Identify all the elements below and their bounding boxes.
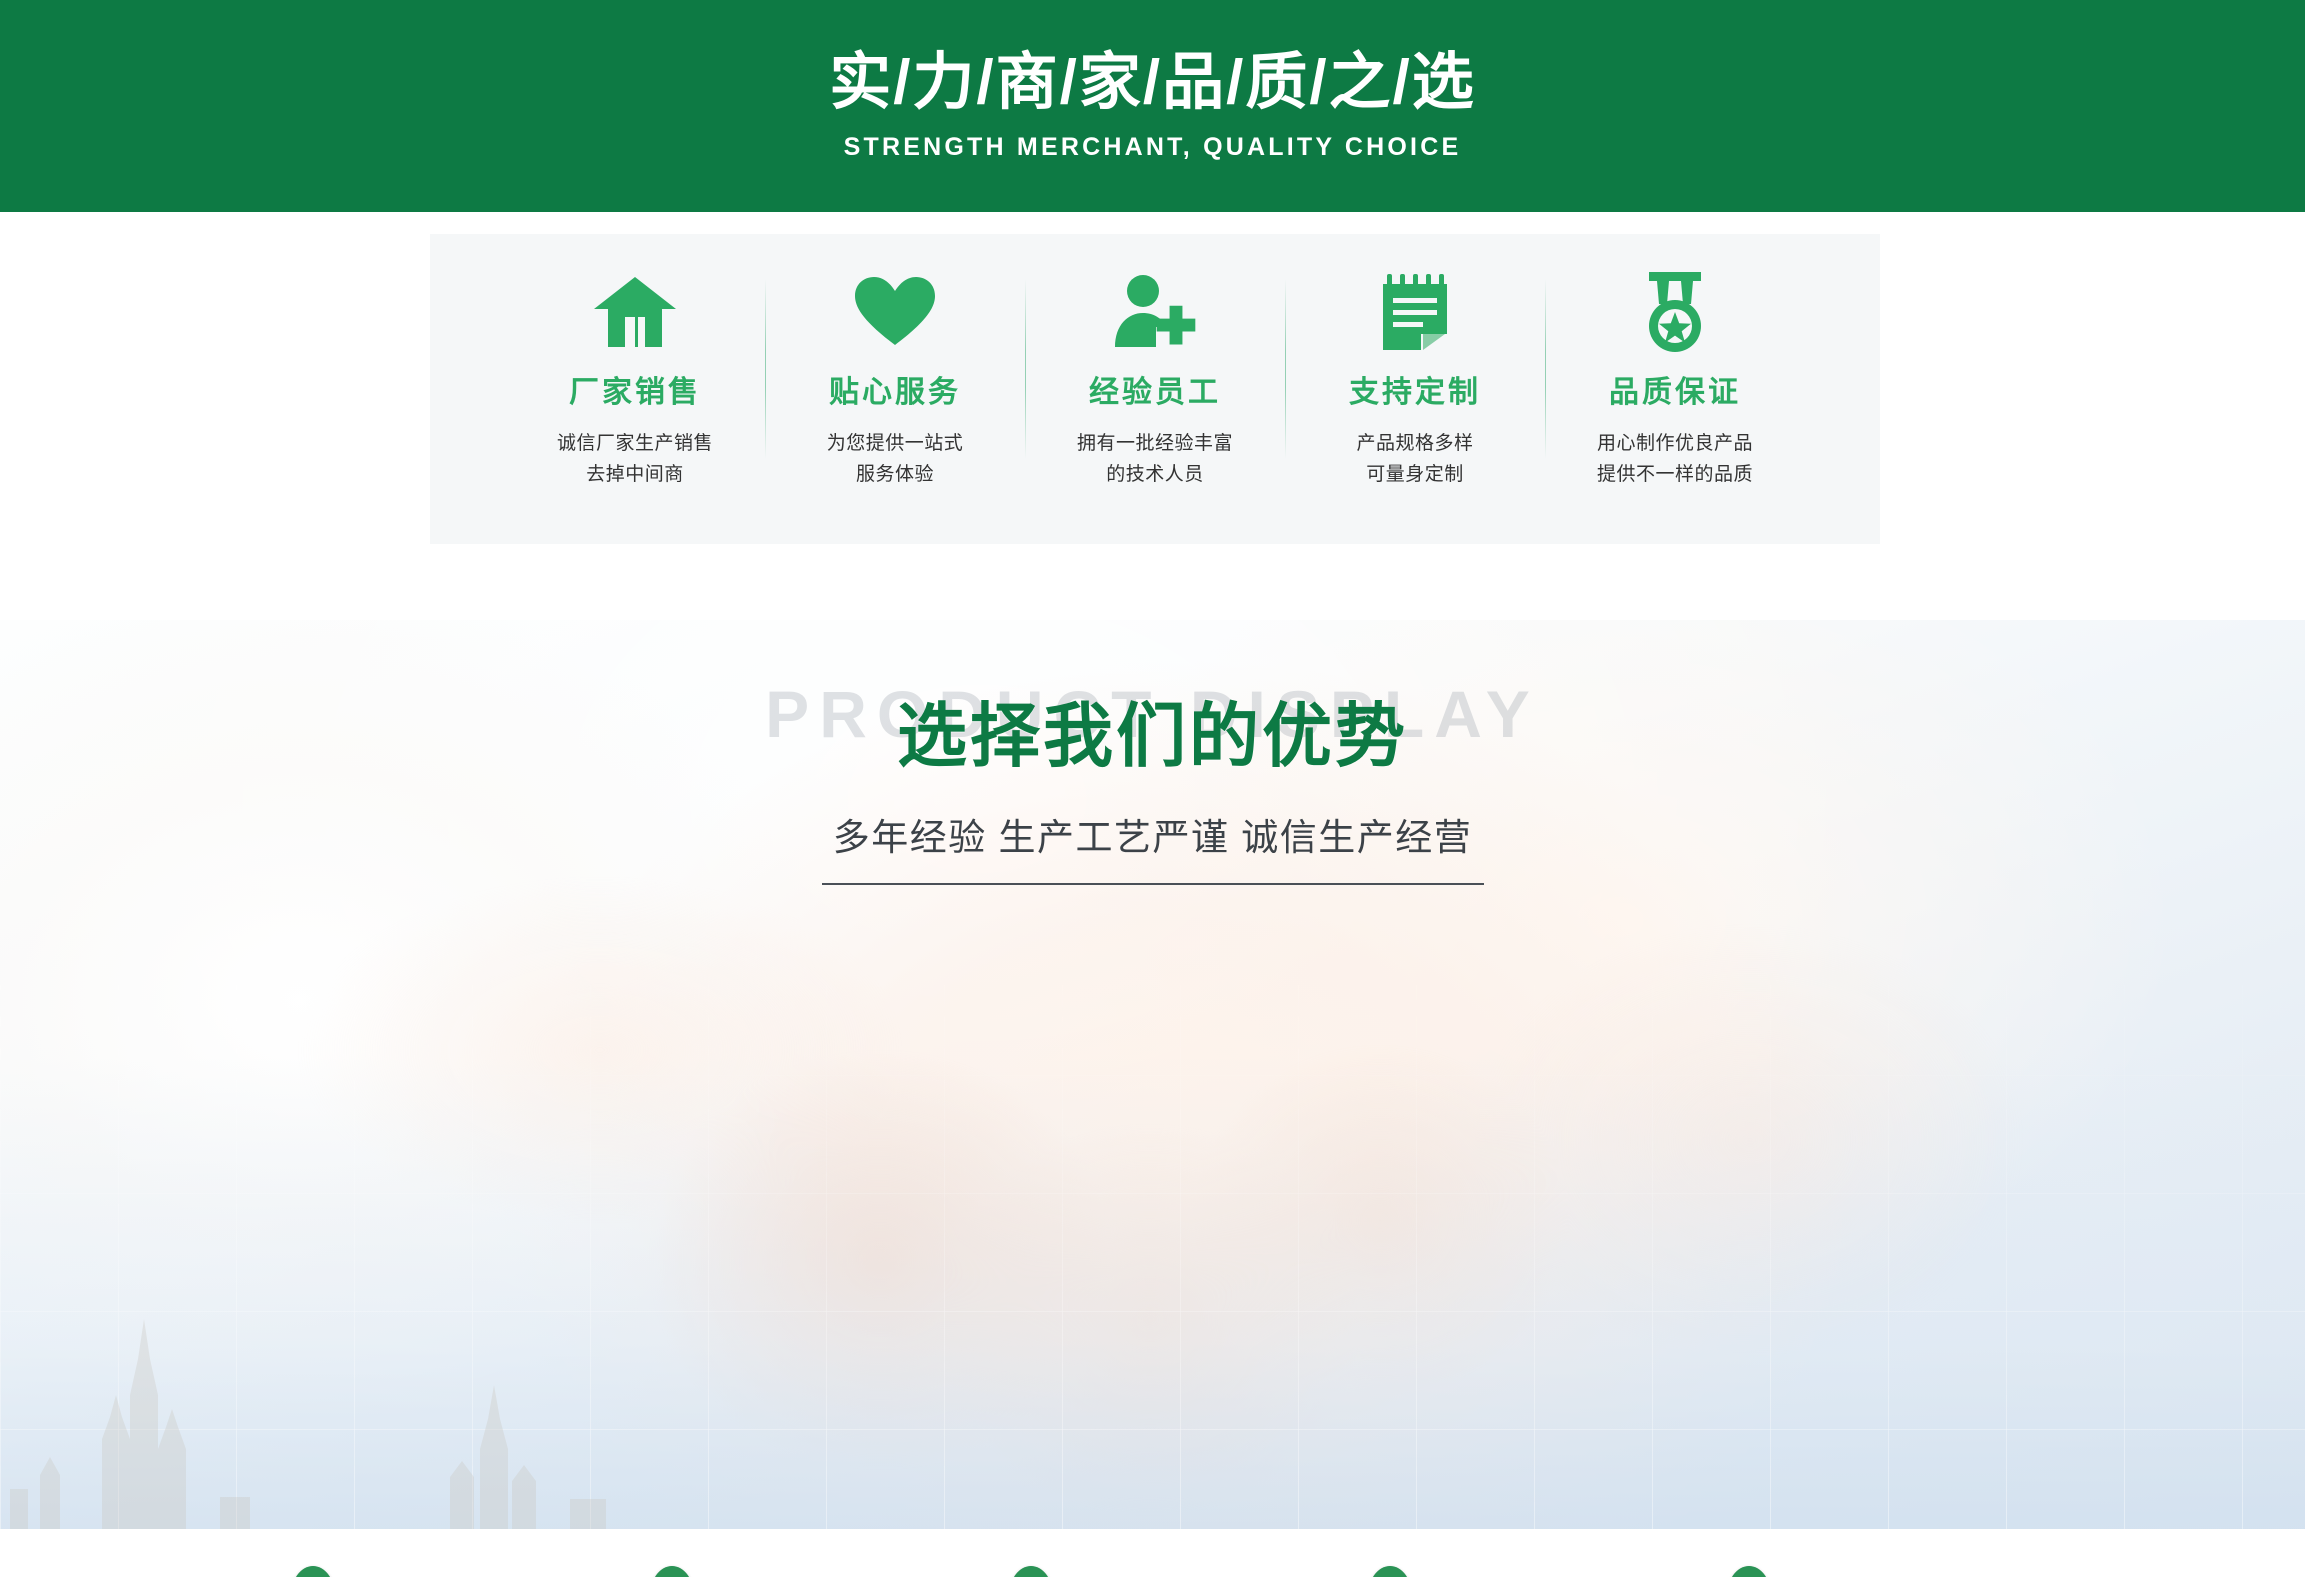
advantage-header: 选择我们的优势 多年经验 生产工艺严谨 诚信生产经营: [0, 620, 2305, 885]
features-band: 厂家销售 诚信厂家生产销售 去掉中间商 贴心服务 为您提供一站式 服务体验: [0, 212, 2305, 620]
feature-title: 品质保证: [1545, 367, 1805, 411]
feature-item-manufacturer-sales[interactable]: 厂家销售 诚信厂家生产销售 去掉中间商: [505, 234, 765, 491]
feature-desc-line1: 诚信厂家生产销售: [505, 429, 765, 460]
medal-icon: [1545, 269, 1805, 355]
feature-desc-line2: 去掉中间商: [505, 460, 765, 491]
feature-desc-line1: 为您提供一站式: [765, 429, 1025, 460]
background-footer-strip: [0, 1529, 2305, 1577]
feature-item-quality-guarantee[interactable]: 品质保证 用心制作优良产品 提供不一样的品质: [1545, 234, 1805, 491]
features-panel: 厂家销售 诚信厂家生产销售 去掉中间商 贴心服务 为您提供一站式 服务体验: [430, 234, 1880, 544]
feature-desc-line1: 拥有一批经验丰富: [1025, 429, 1285, 460]
feature-item-caring-service[interactable]: 贴心服务 为您提供一站式 服务体验: [765, 234, 1025, 491]
heart-icon: [765, 269, 1025, 355]
notepad-icon: [1285, 269, 1545, 355]
advantage-title: 选择我们的优势: [0, 680, 2305, 781]
feature-desc-line2: 提供不一样的品质: [1545, 460, 1805, 491]
feature-desc-line2: 可量身定制: [1285, 460, 1545, 491]
feature-title: 贴心服务: [765, 367, 1025, 411]
header-banner: 实/力/商/家/品/质/之/选 STRENGTH MERCHANT, QUALI…: [0, 0, 2305, 212]
features-row: 厂家销售 诚信厂家生产销售 去掉中间商 贴心服务 为您提供一站式 服务体验: [430, 234, 1880, 544]
feature-title: 经验员工: [1025, 367, 1285, 411]
advantage-subtitle: 多年经验 生产工艺严谨 诚信生产经营: [0, 807, 2305, 861]
feature-item-experienced-staff[interactable]: 经验员工 拥有一批经验丰富 的技术人员: [1025, 234, 1285, 491]
banner-title: 实/力/商/家/品/质/之/选: [829, 50, 1476, 115]
banner-subtitle: STRENGTH MERCHANT, QUALITY CHOICE: [844, 133, 1462, 162]
feature-desc-line2: 服务体验: [765, 460, 1025, 491]
user-plus-icon: [1025, 269, 1285, 355]
feature-item-custom-support[interactable]: 支持定制 产品规格多样 可量身定制: [1285, 234, 1545, 491]
skyline-silhouette-icon: [10, 1299, 770, 1529]
advantage-divider: [822, 883, 1484, 885]
feature-desc-line2: 的技术人员: [1025, 460, 1285, 491]
advantage-section: PRODUCT DISPLAY 选择我们的优势 多年经验 生产工艺严谨 诚信生产…: [0, 620, 2305, 1577]
house-icon: [505, 269, 765, 355]
feature-title: 支持定制: [1285, 367, 1545, 411]
feature-title: 厂家销售: [505, 367, 765, 411]
feature-desc-line1: 产品规格多样: [1285, 429, 1545, 460]
feature-desc-line1: 用心制作优良产品: [1545, 429, 1805, 460]
